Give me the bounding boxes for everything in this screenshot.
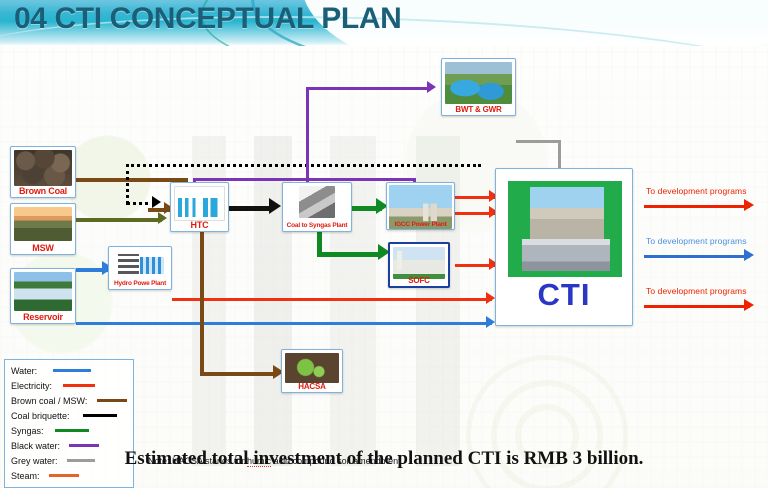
page-title: 04 CTI CONCEPTUAL PLAN [14, 2, 401, 36]
edge-htc-syngas [229, 206, 273, 211]
diagram-canvas: Brown Coal MSW Reservoir Hydro Powe Plan… [0, 46, 768, 488]
legend-label: Electricity: [11, 381, 52, 391]
reservoir-image [14, 272, 72, 311]
msw-image [14, 207, 72, 241]
edge-syngas-sofc-h [317, 252, 383, 257]
slide-root: 04 CTI CONCEPTUAL PLAN [0, 0, 768, 488]
coal-to-syngas-image [299, 186, 335, 218]
sofc-image [393, 247, 445, 279]
legend-swatch-syngas-icon [55, 429, 89, 432]
edge-briquette-left-down [126, 164, 129, 204]
node-label: CTI [496, 279, 632, 310]
legend-swatch-steam-icon [49, 474, 79, 477]
hydro-power-plant-image [112, 250, 168, 278]
bwt-gwr-image [445, 62, 512, 104]
node-label: Reservoir [11, 313, 75, 322]
edge-blackwater-riser [306, 87, 309, 179]
arrowhead-output-3 [744, 299, 754, 311]
legend-item-electricity: Electricity: [5, 378, 133, 393]
legend-item-browncoal-msw: Brown coal / MSW: [5, 393, 133, 408]
node-hydro-power-plant[interactable]: Hydro Powe Plant [108, 246, 172, 290]
output-line-2 [644, 255, 750, 258]
edge-msw-htc [76, 218, 162, 222]
edge-htc-hacsa-v [200, 232, 204, 376]
htc-image [174, 186, 225, 221]
edge-blackwater-to-bwt [306, 87, 431, 90]
arrowhead-blackwater-bwt [427, 81, 436, 93]
node-bwt-gwr[interactable]: BWT & GWR [441, 58, 516, 116]
legend-swatch-briquette-icon [83, 414, 117, 417]
node-cti[interactable]: CTI [495, 168, 633, 326]
output-line-3 [644, 305, 750, 308]
node-igcc-power-plant[interactable]: IGCC Power Plant [386, 182, 455, 230]
node-label: MSW [11, 244, 75, 253]
node-label: HACSA [282, 383, 342, 391]
legend-label: Water: [11, 366, 37, 376]
edge-reservoir-cti-water [76, 322, 492, 325]
arrowhead-briquette-htc [152, 196, 161, 208]
output-line-1 [644, 205, 750, 208]
edge-hydro-cti-electricity [172, 298, 492, 301]
cti-tanks-image [522, 239, 610, 271]
arrowhead-reservoir-cti [486, 316, 495, 328]
legend-swatch-electricity-icon [63, 384, 95, 387]
edge-blackwater-bus [193, 178, 415, 181]
cti-plant-image [530, 187, 604, 239]
node-label: Coal to Syngas Plant [283, 223, 351, 230]
legend-item-syngas: Syngas: [5, 423, 133, 438]
node-htc[interactable]: HTC [170, 182, 229, 232]
node-reservoir[interactable]: Reservoir [10, 268, 76, 324]
node-label: BWT & GWR [442, 106, 515, 114]
legend-item-steam: Steam: [5, 468, 133, 483]
legend-swatch-blackwater-icon [69, 444, 99, 447]
legend-swatch-browncoal-icon [97, 399, 127, 402]
legend-item-water: Water: [5, 363, 133, 378]
legend-item-coal-briquette: Coal briquette: [5, 408, 133, 423]
arrowhead-htc-syngas [269, 198, 281, 214]
cti-green-panel [508, 181, 622, 277]
legend-label: Coal briquette: [11, 411, 70, 421]
node-label: HTC [171, 221, 228, 230]
node-label: IGCC Power Plant [387, 222, 454, 229]
edge-htc-hacsa-h [200, 372, 278, 376]
legend-swatch-water-icon [53, 369, 91, 372]
brown-coal-image [14, 150, 72, 186]
edge-browncoal-htc-h1 [76, 178, 186, 182]
node-msw[interactable]: MSW [10, 203, 76, 255]
node-hacsa[interactable]: HACSA [281, 349, 343, 393]
arrowhead-msw-htc [158, 212, 167, 224]
output-label-1: To development programs [646, 186, 747, 196]
legend-label: Syngas: [11, 426, 44, 436]
node-label: SOFC [390, 277, 448, 285]
node-label: Hydro Powe Plant [109, 281, 171, 288]
node-brown-coal[interactable]: Brown Coal [10, 146, 76, 198]
node-coal-to-syngas-plant[interactable]: Coal to Syngas Plant [282, 182, 352, 232]
arrowhead-hydro-cti [486, 292, 495, 304]
hacsa-image [285, 353, 339, 383]
edge-syngas-sofc-v [317, 232, 322, 254]
arrowhead-output-2 [744, 249, 754, 261]
output-label-2: To development programs [646, 236, 747, 246]
legend-label: Steam: [11, 471, 40, 481]
output-label-3: To development programs [646, 286, 747, 296]
footer-statement: Estimated total investment of the planne… [0, 448, 768, 470]
edge-greywater-h [516, 140, 560, 143]
legend-label: Brown coal / MSW: [11, 396, 87, 406]
edge-briquette-top [126, 164, 481, 167]
arrowhead-output-1 [744, 199, 754, 211]
node-sofc[interactable]: SOFC [388, 242, 450, 288]
node-label: Brown Coal [11, 187, 75, 196]
